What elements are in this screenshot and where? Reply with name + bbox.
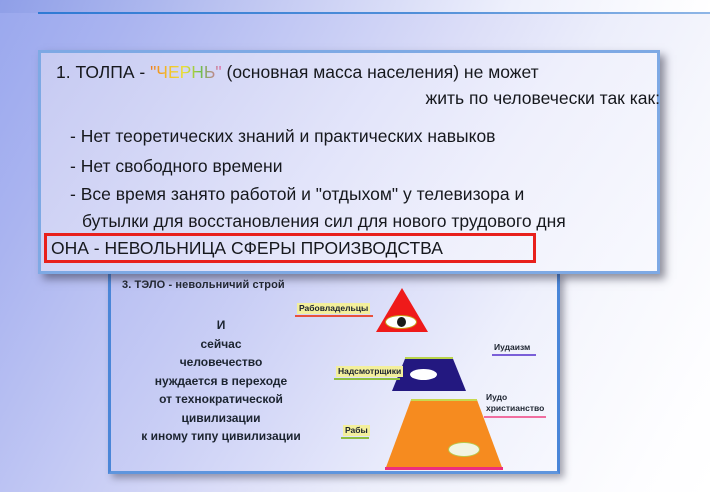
label-slaves-underline (341, 437, 369, 439)
label-judeo-christianity-line1: Иудо (486, 392, 544, 403)
caption-line-5: - Все время занято работой и "отдыхом" у… (70, 184, 524, 205)
pyramid-base-bottom-edge (385, 467, 503, 470)
caption-line-3: - Нет теоретических знаний и практически… (70, 126, 495, 147)
caption-line-2: жить по человечески так как: (426, 88, 660, 109)
base-eye-icon (449, 443, 479, 456)
label-judeo-christianity-underline (484, 416, 546, 418)
label-judaism-underline (492, 354, 536, 356)
emphasis-text: ОНА - НЕВОЛЬНИЦА СФЕРЫ ПРОИЗВОДСТВА (51, 237, 443, 259)
label-overseers: Надсмотрщики (336, 366, 403, 377)
label-slaves: Рабы (343, 425, 370, 436)
label-slaveowners: Рабовладельцы (297, 303, 370, 314)
paragraph-line: цивилизации (112, 409, 330, 428)
label-judeo-christianity: Иудо христианство (486, 392, 544, 414)
caption-line-4: - Нет свободного времени (70, 156, 282, 177)
label-slaveowners-underline (295, 315, 373, 317)
paragraph-line: И (112, 316, 330, 335)
caption-line-6: бутылки для восстановления сил для новог… (82, 211, 566, 232)
label-judaism: Иудаизм (494, 342, 530, 353)
caption-line-1: 1. ТОЛПА - "ЧЕРНЬ" (основная масса насел… (56, 62, 539, 83)
caption-line-1-suffix: (основная масса населения) не может (222, 62, 539, 82)
pyramid-middle-top-edge (405, 357, 453, 359)
middle-eye-icon (410, 369, 437, 380)
paragraph-line: от технократической (112, 390, 330, 409)
label-overseers-underline (334, 378, 400, 380)
paragraph-line: человечество (112, 353, 330, 372)
pyramid-base-top-edge (411, 399, 477, 401)
slide-screenshot: 3. ТЭЛО - невольничий строй И сейчас чел… (0, 0, 710, 492)
caption-highlight-word: "ЧЕРНЬ" (150, 62, 222, 82)
inner-slide-paragraph: И сейчас человечество нуждается в перехо… (112, 316, 330, 446)
background-top-rule (38, 12, 710, 14)
label-judeo-christianity-line2: христианство (486, 403, 544, 414)
inner-slide-title: 3. ТЭЛО - невольничий строй (122, 279, 382, 291)
caption-line-1-prefix: 1. ТОЛПА - (56, 62, 150, 82)
eye-pupil-icon (397, 317, 406, 327)
paragraph-line: к иному типу цивилизации (112, 427, 330, 446)
paragraph-line: сейчас (112, 335, 330, 354)
paragraph-line: нуждается в переходе (112, 372, 330, 391)
